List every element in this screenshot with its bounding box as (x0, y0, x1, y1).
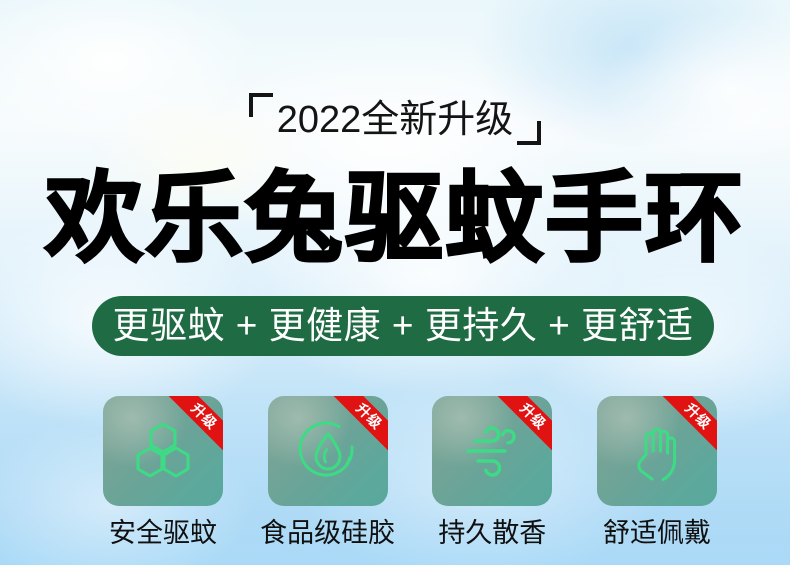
feature-item-food-grade-silicone[interactable]: 升级 食品级硅胶 (268, 396, 388, 549)
page-title: 欢乐兔驱蚊手环 (0, 162, 790, 274)
feature-item-comfortable-wear[interactable]: 升级 舒适佩戴 (597, 396, 717, 549)
kicker-text: 2022全新升级 (277, 99, 514, 141)
feature-label: 食品级硅胶 (260, 517, 395, 549)
wind-icon (459, 418, 525, 484)
feature-tile[interactable]: 升级 (268, 396, 388, 506)
feature-item-safe-repellent[interactable]: 升级 安全驱蚊 (103, 396, 223, 549)
feature-tile[interactable]: 升级 (103, 396, 223, 506)
feature-label: 安全驱蚊 (109, 517, 217, 549)
promo-poster: 2022全新升级 欢乐兔驱蚊手环 更驱蚊 + 更健康 + 更持久 + 更舒适 (0, 0, 790, 565)
kicker-line: 2022全新升级 (0, 92, 790, 148)
benefits-banner-text: 更驱蚊 + 更健康 + 更持久 + 更舒适 (112, 305, 693, 347)
kicker-inner: 2022全新升级 (243, 97, 548, 143)
benefits-banner: 更驱蚊 + 更健康 + 更持久 + 更舒适 (92, 296, 714, 356)
hand-icon (624, 418, 690, 484)
feature-label: 舒适佩戴 (603, 517, 711, 549)
feature-tile[interactable]: 升级 (597, 396, 717, 506)
honeycomb-icon (130, 418, 196, 484)
feature-tile[interactable]: 升级 (432, 396, 552, 506)
feature-label: 持久散香 (438, 517, 546, 549)
bracket-open-icon (249, 93, 273, 117)
bracket-close-icon (517, 121, 541, 145)
feature-list: 升级 安全驱蚊 升级 食品 (103, 396, 717, 549)
feature-item-long-lasting-scent[interactable]: 升级 持久散香 (432, 396, 552, 549)
water-drop-icon (295, 418, 361, 484)
